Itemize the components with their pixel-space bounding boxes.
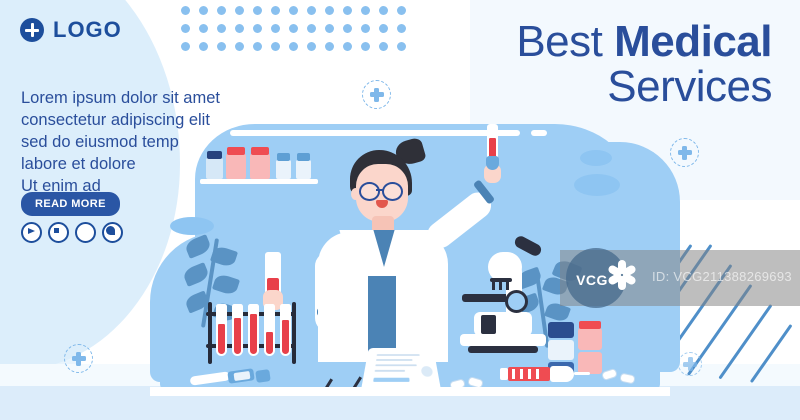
headline-word-best: Best (516, 17, 614, 66)
dot-grid-decoration (181, 6, 415, 60)
thermometer-tip (255, 369, 271, 383)
grid-dot (379, 24, 388, 33)
medicine-bottle (296, 160, 311, 179)
logo-text: LOGO (53, 17, 122, 43)
grid-dot (307, 6, 316, 15)
medicine-bottle (578, 352, 602, 374)
document-line (376, 359, 413, 361)
syringe-needle (574, 372, 590, 375)
grid-dot (253, 6, 262, 15)
document-line (375, 364, 417, 366)
banner-canvas: LOGO Best Medical Services Lorem ipsum d… (0, 0, 800, 420)
illustration-highlight-bar (230, 130, 520, 136)
grid-dot (325, 6, 334, 15)
test-tube (248, 304, 259, 356)
test-tube (216, 304, 227, 356)
test-tube (264, 304, 275, 356)
grid-dot (217, 24, 226, 33)
document-line (377, 354, 420, 356)
grid-dot (343, 6, 352, 15)
grid-dot (271, 42, 280, 51)
illustration-highlight-dot (531, 130, 547, 136)
plus-circle-icon (20, 18, 44, 42)
phone-icon[interactable] (102, 222, 123, 243)
test-tube (232, 304, 243, 356)
eyeglass-lens (359, 182, 380, 201)
grid-dot (235, 6, 244, 15)
syringe-gradation (520, 369, 523, 379)
grid-dot (325, 42, 334, 51)
stripe (750, 324, 793, 383)
grid-dot (253, 24, 262, 33)
grid-dot (397, 42, 406, 51)
microscope-objective (506, 282, 509, 290)
grid-dot (271, 24, 280, 33)
grid-dot (343, 42, 352, 51)
illustration-accent-pill (170, 217, 214, 235)
circle-icon[interactable] (75, 222, 96, 243)
desk-edge-highlight (150, 387, 670, 396)
grid-dot (253, 42, 262, 51)
grid-dot (199, 24, 208, 33)
syringe-plunger (500, 368, 508, 380)
medical-cross-icon (678, 352, 702, 376)
document-line (375, 370, 406, 372)
grid-dot (199, 42, 208, 51)
syringe-tip (550, 366, 574, 382)
grid-dot (235, 24, 244, 33)
grid-dot (379, 42, 388, 51)
medicine-bottle (548, 340, 574, 360)
grid-dot (181, 24, 190, 33)
microscope-objective (499, 282, 502, 290)
medicine-bottle (276, 160, 291, 179)
medicine-bottle (250, 154, 270, 179)
grid-dot (217, 6, 226, 15)
grid-dot (307, 42, 316, 51)
grid-dot (181, 6, 190, 15)
shelf (200, 179, 318, 184)
medicine-box (548, 322, 574, 338)
read-more-button[interactable]: READ MORE (21, 192, 120, 216)
medicine-bottle (206, 158, 223, 179)
grid-dot (397, 6, 406, 15)
watermark-id: ID: VCG211388269693 (652, 269, 792, 284)
microscope-foot (468, 346, 538, 353)
illustration-accent-pill (580, 150, 612, 166)
logo[interactable]: LOGO (20, 17, 122, 43)
grid-dot (361, 42, 370, 51)
grid-dot (361, 24, 370, 33)
eyeglass-bridge (376, 189, 383, 191)
microscope-objective (492, 282, 495, 290)
document-stamp (421, 366, 434, 377)
square-icon[interactable] (48, 222, 69, 243)
grid-dot (289, 42, 298, 51)
tube-holder (486, 156, 499, 170)
grid-dot (379, 6, 388, 15)
grid-dot (397, 24, 406, 33)
test-tube (280, 304, 291, 356)
grid-dot (181, 42, 190, 51)
headline-line-2: Services (516, 65, 772, 108)
grid-dot (343, 24, 352, 33)
medicine-bottle (226, 154, 246, 179)
syringe-gradation (512, 369, 515, 379)
syringe-gradation (536, 369, 539, 379)
grid-dot (199, 6, 208, 15)
medical-cross-icon (64, 344, 93, 373)
grid-dot (235, 42, 244, 51)
document-line (373, 378, 409, 382)
headline-line-1: Best Medical (516, 20, 772, 63)
grid-dot (307, 24, 316, 33)
microscope-focus-knob (505, 290, 528, 313)
headline-word-medical: Medical (614, 17, 772, 66)
medical-cross-icon (670, 138, 699, 167)
grid-dot (217, 42, 226, 51)
medicine-bottle (578, 328, 602, 350)
grid-dot (325, 24, 334, 33)
page-title: Best Medical Services (516, 20, 772, 108)
grid-dot (289, 6, 298, 15)
medical-cross-icon (362, 80, 391, 109)
social-icon-row (21, 222, 123, 243)
grid-dot (361, 6, 370, 15)
grid-dot (271, 6, 280, 15)
microscope-sample-cup (481, 315, 496, 334)
body-copy-line: Lorem ipsum dolor sit amet (21, 88, 261, 110)
syringe-gradation (528, 369, 531, 379)
grid-dot (289, 24, 298, 33)
watermark-petal-icon (604, 258, 638, 292)
play-icon[interactable] (21, 222, 42, 243)
illustration-accent-pill (574, 174, 620, 196)
eyeglass-lens (382, 182, 403, 201)
